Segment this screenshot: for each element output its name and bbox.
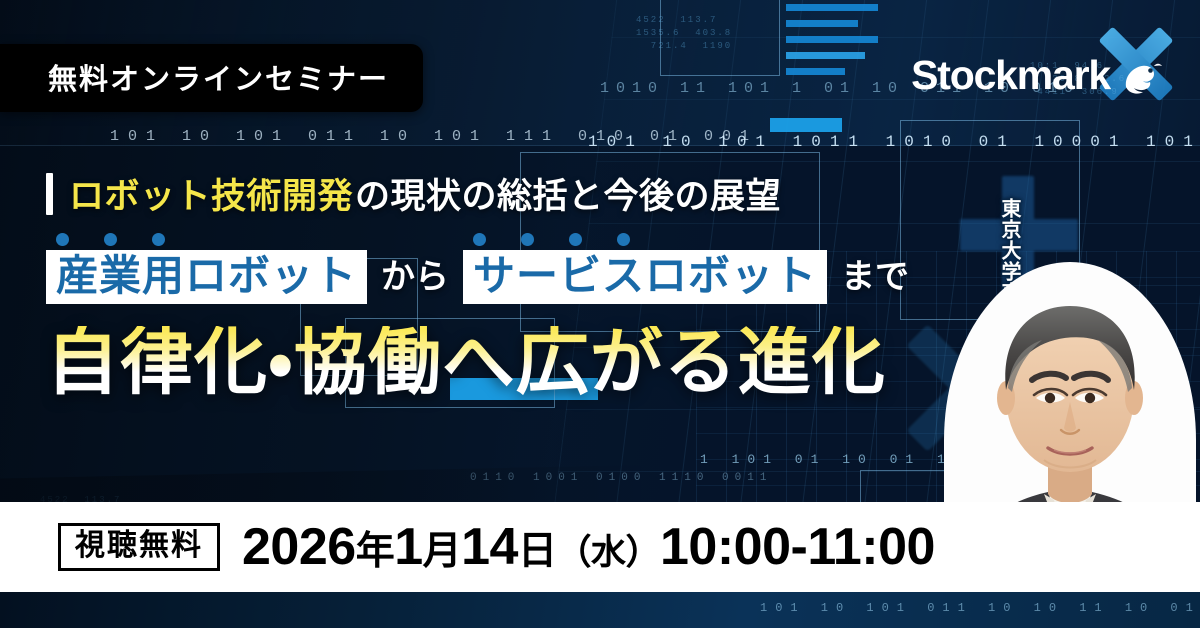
watch-free-badge: 視聴無料 bbox=[58, 523, 220, 571]
background-bar-stack bbox=[786, 4, 878, 84]
emphasis-dots-1 bbox=[56, 233, 200, 246]
footer-binary: 101 10 101 011 10 10 11 10 01 101 bbox=[760, 601, 1200, 615]
date-month: 1 bbox=[394, 517, 422, 577]
main-headline: 自律化・協働へ広がる進化 bbox=[46, 326, 946, 400]
date-day-unit: 日 bbox=[518, 520, 557, 576]
seminar-banner: 1010 11 101 1 01 10 011 10 010 101 10 10… bbox=[0, 0, 1200, 628]
seminar-datetime: 2026年1月14日（水）10:00-11:00 bbox=[242, 517, 935, 577]
subheadline-highlight: ロボット技術開発 bbox=[69, 168, 353, 219]
squirrel-icon bbox=[1120, 54, 1164, 98]
logo-wordmark: Stockmark bbox=[911, 52, 1110, 99]
chip-industrial-wrap: 産業用ロボット bbox=[46, 250, 367, 304]
subheadline: ロボット技術開発 の現状の総括と今後の展望 bbox=[46, 168, 946, 219]
emphasis-dots-2 bbox=[473, 233, 665, 246]
date-year: 2026 bbox=[242, 517, 356, 577]
date-bar: 視聴無料 2026年1月14日（水）10:00-11:00 bbox=[0, 502, 1200, 592]
chip-service-wrap: サービスロボット bbox=[463, 250, 827, 304]
free-seminar-badge: 無料オンラインセミナー bbox=[0, 44, 423, 112]
background-number-cluster-a: 4522 113.7 1535.6 403.8 721.4 1190 bbox=[636, 14, 732, 53]
date-year-unit: 年 bbox=[356, 520, 395, 576]
subheadline-rest: の現状の総括と今後の展望 bbox=[355, 168, 781, 219]
chip-industrial-robot: 産業用ロボット bbox=[46, 250, 367, 304]
date-day: 14 bbox=[461, 517, 518, 577]
accent-bar bbox=[46, 173, 53, 215]
stockmark-logo[interactable]: Stockmark bbox=[911, 52, 1164, 99]
date-month-unit: 月 bbox=[423, 520, 462, 576]
background-cyan-bar-2 bbox=[770, 118, 842, 132]
chip-service-robot: サービスロボット bbox=[463, 250, 827, 304]
main-copy-block: ロボット技術開発 の現状の総括と今後の展望 産業用ロボット から サービスロボッ… bbox=[46, 168, 946, 400]
date-time: 10:00-11:00 bbox=[660, 517, 935, 577]
conjunction-kara: から bbox=[367, 249, 463, 304]
scope-line: 産業用ロボット から サービスロボット まで bbox=[46, 249, 946, 304]
footer-band: 101 10 101 011 10 10 11 10 01 101 bbox=[0, 592, 1200, 628]
date-weekday: （水） bbox=[557, 524, 661, 575]
